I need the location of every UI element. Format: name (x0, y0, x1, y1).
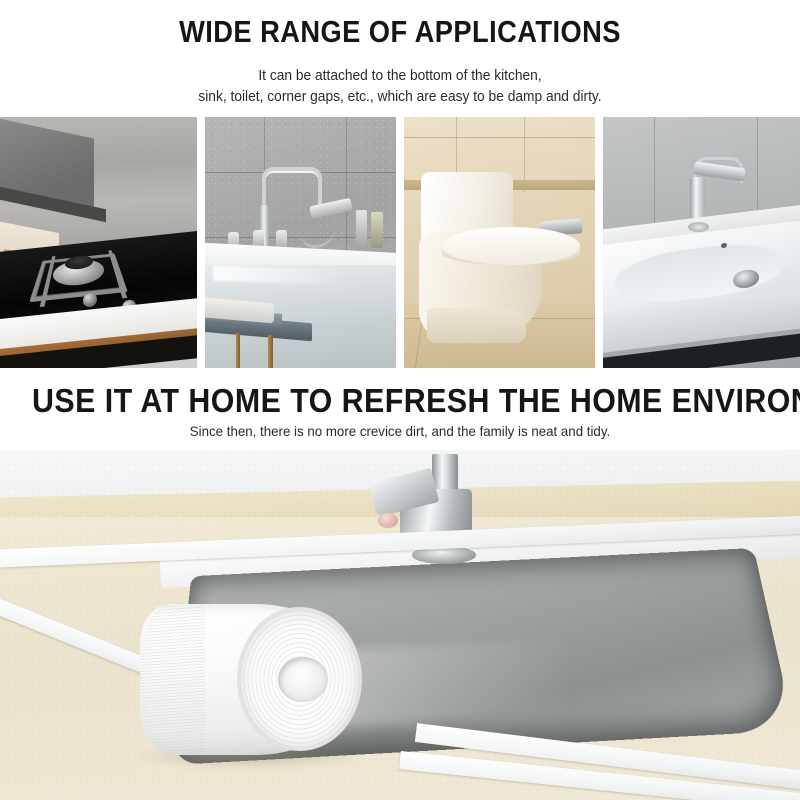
tape-roll-layer-edges (140, 606, 205, 753)
gas-cooktop-scene (0, 117, 197, 368)
wall-tile-row-line (404, 137, 595, 138)
top-subtitle: It can be attached to the bottom of the … (20, 66, 780, 108)
stool-leg-right (268, 335, 273, 368)
toilet-seat-lid (442, 227, 580, 265)
top-heading: WIDE RANGE OF APPLICATIONS (48, 14, 752, 50)
cooktop-knob-left (83, 292, 97, 307)
toilet-base (427, 308, 526, 343)
top-subtitle-line-2: sink, toilet, corner gaps, etc., which a… (20, 87, 780, 108)
tape-roll-core-hole (278, 657, 328, 702)
gallery-panel-bathtub-chrome-faucet (205, 117, 396, 368)
washbasin-scene (603, 117, 800, 368)
gallery-panel-kitchen-gas-cooktop (0, 117, 197, 368)
application-gallery (0, 117, 800, 368)
tape-roll (140, 604, 356, 755)
stool-leg-left (236, 333, 241, 368)
top-subtitle-line-1: It can be attached to the bottom of the … (20, 66, 780, 87)
bathtub-scene (205, 117, 396, 368)
bottom-subtitle: Since then, there is no more crevice dir… (20, 421, 780, 442)
gallery-panel-one-piece-toilet (404, 117, 595, 368)
tile-grout-vertical-2 (346, 117, 347, 263)
faucet-temperature-indicator (378, 513, 399, 528)
bottom-heading: USE IT AT HOME TO REFRESH THE HOME ENVIR… (32, 382, 768, 420)
gallery-panel-washbasin-vanity (603, 117, 800, 368)
toiletry-bottle-2 (371, 212, 382, 247)
toilet-scene (404, 117, 595, 368)
hero-photo-sink-with-tape-roll (0, 450, 800, 800)
product-infographic: WIDE RANGE OF APPLICATIONS It can be att… (0, 0, 800, 800)
toiletry-bottle-1 (356, 210, 367, 245)
